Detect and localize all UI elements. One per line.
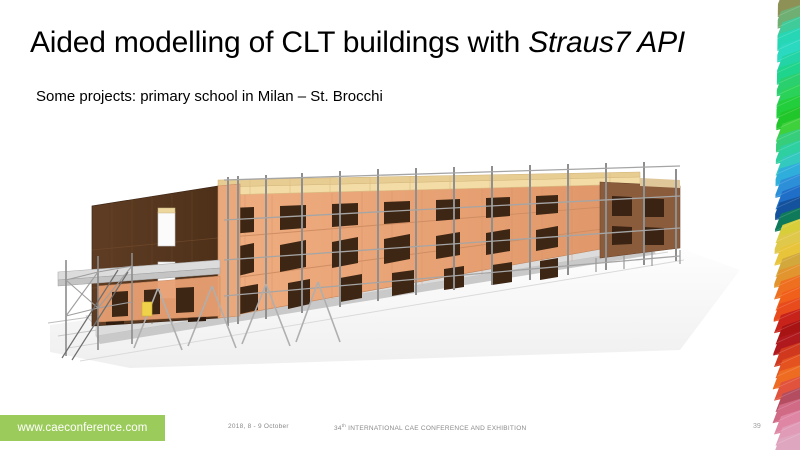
page-title: Aided modelling of CLT buildings with St…	[30, 26, 730, 60]
building-render-figure	[40, 120, 740, 380]
website-badge[interactable]: www.caeconference.com	[0, 415, 165, 441]
slide-footer: www.caeconference.com 2018, 8 - 9 Octobe…	[0, 410, 800, 450]
page-title-prefix: Aided modelling of CLT buildings with	[30, 26, 528, 59]
title-block: Aided modelling of CLT buildings with St…	[30, 26, 730, 60]
page-title-emphasis: Straus7 API	[528, 26, 685, 59]
page-subtitle: Some projects: primary school in Milan –…	[36, 87, 383, 106]
website-url-label: www.caeconference.com	[18, 422, 148, 434]
page-number: 39	[753, 423, 761, 430]
building-render-svg	[40, 120, 740, 380]
footer-conference-name: 34th INTERNATIONAL CAE CONFERENCE AND EX…	[334, 423, 526, 432]
conference-title: INTERNATIONAL CAE CONFERENCE AND EXHIBIT…	[346, 425, 526, 432]
far-end-block	[600, 178, 680, 258]
footer-date: 2018, 8 - 9 October	[228, 423, 289, 430]
presentation-slide: Aided modelling of CLT buildings with St…	[0, 0, 800, 450]
conference-ordinal: 34	[334, 425, 342, 432]
rainbow-mosaic-svg	[768, 0, 800, 450]
site-sign	[142, 302, 152, 316]
rainbow-mosaic-strip	[768, 0, 800, 450]
